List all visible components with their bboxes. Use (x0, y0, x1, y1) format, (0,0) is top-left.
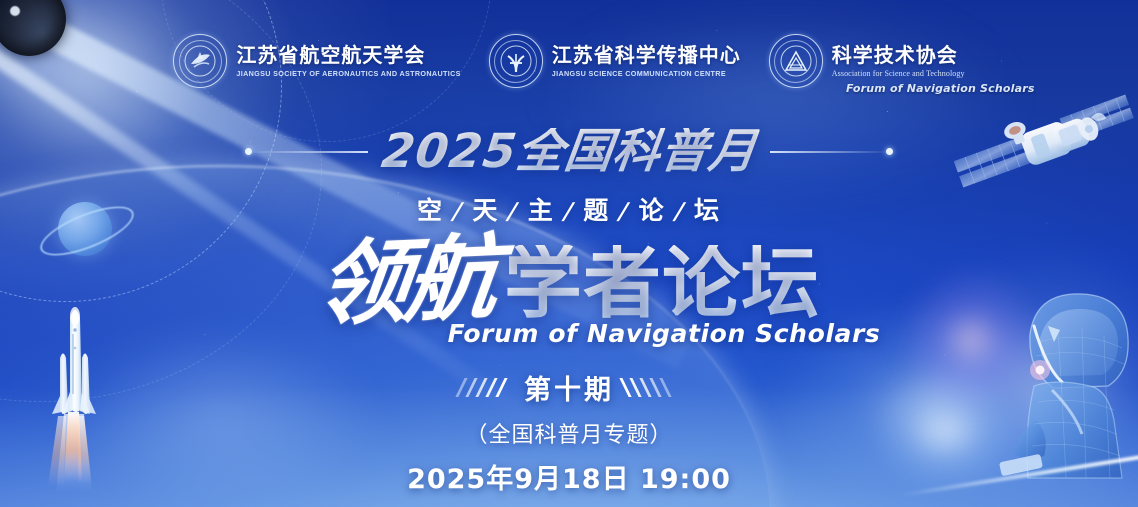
organizer-1-text: 江苏省航空航天学会 JIANGSU SOCIETY OF AERONAUTICS… (236, 44, 460, 77)
jscc-emblem-icon (489, 34, 543, 88)
event-datetime: 2025年9月18日 19:00 (0, 457, 1138, 496)
jsaa-emblem-icon (173, 34, 227, 88)
forum-title: 领航 学者论坛 (0, 231, 1138, 323)
theme-char: 天 (472, 196, 499, 225)
organizer-logo-3: 科学技术协会 Association for Science and Techn… (769, 34, 965, 88)
theme-separator: / (449, 199, 467, 225)
organizer-3-name-en: Association for Science and Technology (832, 69, 965, 78)
organizer-2-name-en: JIANGSU SCIENCE COMMUNICATION CENTRE (552, 69, 741, 78)
rule-right (770, 151, 890, 153)
organizer-1-name-cn: 江苏省航空航天学会 (236, 44, 460, 66)
forum-title-en: Forum of Navigation Scholars (0, 319, 1138, 348)
theme-separator: / (671, 199, 689, 225)
campaign-title: 2025全国科普月 (379, 128, 760, 175)
chevrons-right-icon (626, 378, 676, 397)
organizer-2-text: 江苏省科学传播中心 JIANGSU SCIENCE COMMUNICATION … (552, 44, 741, 77)
event-poster: 江苏省航空航天学会 JIANGSU SOCIETY OF AERONAUTICS… (0, 0, 1138, 507)
episode-row: 第十期 (0, 368, 1138, 407)
theme-char: 论 (639, 196, 666, 225)
organizer-3-name-cn: 科学技术协会 (832, 44, 965, 66)
rule-dot-right (886, 148, 893, 155)
chevrons-left-icon (462, 378, 512, 397)
dark-planet-highlight (10, 6, 20, 16)
theme-char: 题 (583, 196, 610, 225)
campaign-title-row: 2025全国科普月 (0, 128, 1138, 175)
forum-title-brush: 领航 (312, 231, 508, 331)
nuaa-emblem-icon (769, 34, 823, 88)
theme-char: 坛 (694, 196, 721, 225)
organizer-2-name-cn: 江苏省科学传播中心 (552, 44, 741, 66)
forum-title-gothic: 学者论坛 (504, 245, 820, 323)
theme-subtitle: 空/天/主/题/论/坛 (0, 191, 1138, 227)
organizer-logos: 江苏省航空航天学会 JIANGSU SOCIETY OF AERONAUTICS… (0, 34, 1138, 88)
organizer-logo-2: 江苏省科学传播中心 JIANGSU SCIENCE COMMUNICATION … (489, 34, 741, 88)
overlay-forum-text: Forum of Navigation Scholars (846, 82, 1035, 95)
poster-center-content: 2025全国科普月 空/天/主/题/论/坛 领航 学者论坛 Forum of N… (0, 128, 1138, 496)
organizer-3-text: 科学技术协会 Association for Science and Techn… (832, 44, 965, 77)
event-note: （全国科普月专题） (0, 417, 1138, 449)
theme-char: 空 (417, 196, 444, 225)
organizer-1-name-en: JIANGSU SOCIETY OF AERONAUTICS AND ASTRO… (236, 69, 460, 78)
episode-label: 第十期 (524, 368, 614, 407)
theme-separator: / (560, 199, 578, 225)
theme-separator: / (505, 199, 523, 225)
rule-dot-left (245, 148, 252, 155)
theme-separator: / (615, 199, 633, 225)
organizer-logo-1: 江苏省航空航天学会 JIANGSU SOCIETY OF AERONAUTICS… (173, 34, 460, 88)
theme-char: 主 (528, 196, 555, 225)
rule-left (248, 151, 368, 153)
